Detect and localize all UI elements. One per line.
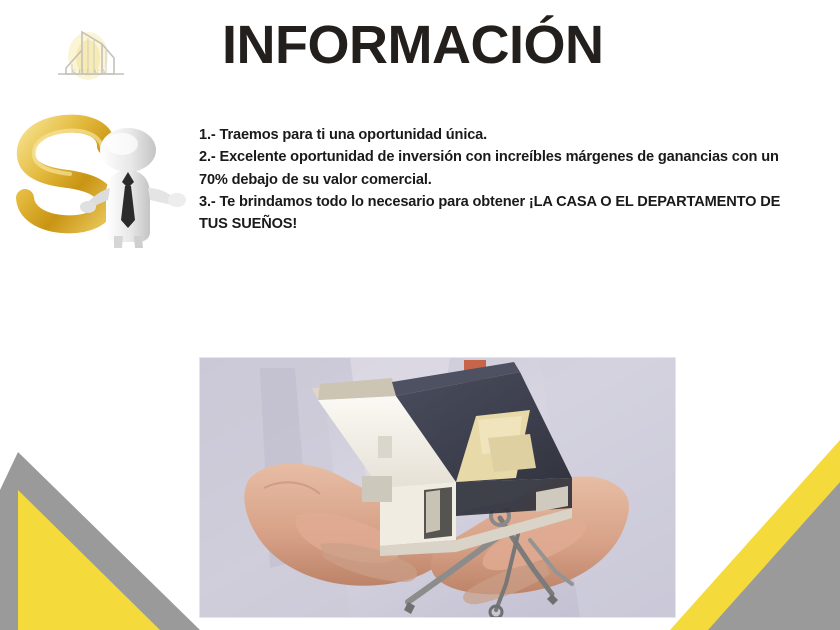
logo-wordmark: SULVA — [44, 68, 136, 77]
house-photo — [199, 357, 676, 618]
dollar-sign-icon — [25, 118, 106, 236]
house-photo-image — [200, 358, 675, 617]
info-body-text: 1.- Traemos para ti una oportunidad únic… — [199, 124, 809, 235]
page-title: INFORMACIÓN — [222, 14, 603, 76]
attic-window — [378, 436, 392, 458]
slide-canvas: SULVA INFORMACIÓN — [0, 0, 840, 630]
building-logo-icon — [44, 24, 136, 88]
building-logo — [44, 24, 136, 88]
info-line-3: 3.- Te brindamos todo lo necesario para … — [199, 191, 809, 236]
info-line-1: 1.- Traemos para ti una oportunidad únic… — [199, 124, 809, 146]
corner-triangle-bottom-left — [0, 430, 200, 630]
corner-triangle-bottom-left-shape — [0, 430, 200, 630]
dollar-sign-with-figure — [2, 108, 194, 248]
info-line-2: 2.- Excelente oportunidad de inversión c… — [199, 146, 809, 191]
dollar-figure-illustration — [2, 108, 194, 248]
